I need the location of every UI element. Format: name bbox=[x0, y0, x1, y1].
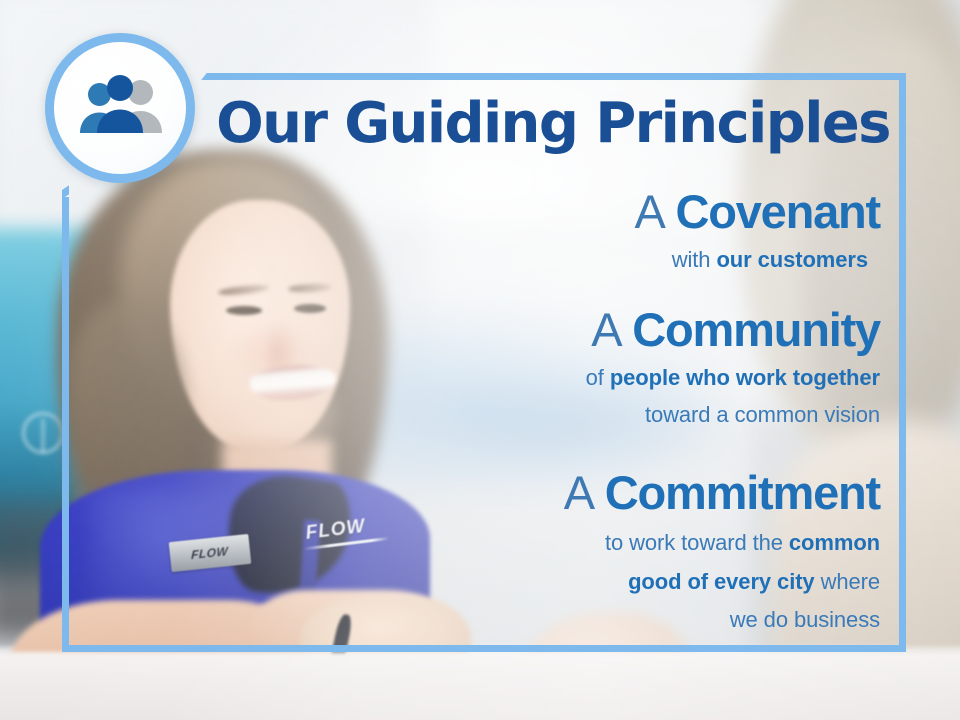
frame-border-bottom bbox=[62, 645, 906, 652]
principle-commitment-keyword: Commitment bbox=[605, 466, 880, 519]
people-badge bbox=[45, 33, 195, 183]
principle-community: A Community of people who work together … bbox=[300, 304, 880, 429]
principle-covenant-subtext: with our customers bbox=[300, 246, 880, 274]
flyer-canvas: FLOW FLOW Our Guiding Principles bbox=[0, 0, 960, 720]
principle-covenant-sub-bold: our customers bbox=[716, 247, 868, 272]
frame-border-top bbox=[213, 73, 906, 80]
principle-community-subtext: of people who work together bbox=[300, 364, 880, 392]
principle-covenant-heading: A Covenant bbox=[300, 186, 880, 239]
principle-commitment-subtext: to work toward the common bbox=[300, 529, 880, 557]
principle-covenant-sub-pre: with bbox=[672, 247, 717, 272]
principle-commitment-sub-line2-post: where bbox=[815, 569, 880, 594]
principle-commitment: A Commitment to work toward the common g… bbox=[300, 467, 880, 634]
bg-car-emblem bbox=[22, 412, 64, 454]
page-title: Our Guiding Principles bbox=[213, 95, 893, 152]
principle-covenant-article: A bbox=[634, 185, 675, 238]
employee-name-badge-text: FLOW bbox=[191, 545, 229, 561]
principle-community-subtext-line2: toward a common vision bbox=[300, 401, 880, 429]
principle-commitment-sub-pre: to work toward the bbox=[605, 530, 789, 555]
principles-list: A Covenant with our customers A Communit… bbox=[300, 186, 880, 640]
principle-commitment-subtext-line3: we do business bbox=[300, 606, 880, 634]
principle-commitment-subtext-line2: good of every city where bbox=[300, 568, 880, 596]
frame-border-right bbox=[899, 73, 906, 652]
principle-community-heading: A Community bbox=[300, 304, 880, 357]
principle-commitment-heading: A Commitment bbox=[300, 467, 880, 520]
employee-eye-left bbox=[226, 306, 262, 315]
desk-surface bbox=[0, 652, 960, 720]
principle-covenant: A Covenant with our customers bbox=[300, 186, 880, 274]
people-group-icon bbox=[74, 75, 166, 141]
principle-community-sub-pre: of bbox=[586, 365, 610, 390]
principle-community-keyword: Community bbox=[632, 303, 880, 356]
principle-commitment-sub-bold: common bbox=[789, 530, 880, 555]
principle-community-sub-bold: people who work together bbox=[610, 365, 880, 390]
principle-community-article: A bbox=[591, 303, 632, 356]
employee-nose bbox=[268, 322, 298, 368]
principle-commitment-sub-line2-bold: good of every city bbox=[628, 569, 814, 594]
principle-commitment-article: A bbox=[564, 466, 605, 519]
principle-covenant-keyword: Covenant bbox=[675, 185, 880, 238]
frame-border-left bbox=[62, 197, 69, 652]
